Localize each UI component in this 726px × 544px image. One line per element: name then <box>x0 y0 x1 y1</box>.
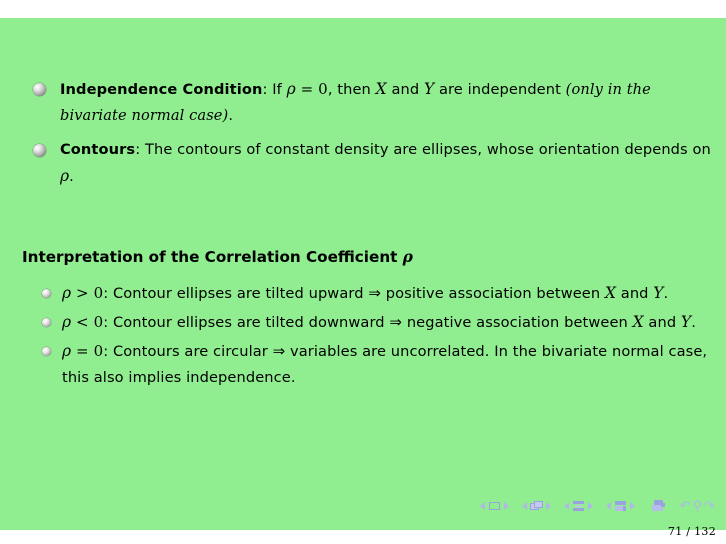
variable-x: X <box>376 80 387 98</box>
zero-value: 0 <box>94 284 104 302</box>
slide-icon[interactable] <box>488 500 501 512</box>
vertical-spacer <box>0 268 726 280</box>
variable-y: Y <box>653 284 663 302</box>
item-period: . <box>664 285 669 302</box>
slide-navigation-group[interactable] <box>477 500 512 512</box>
item-colon: : <box>103 285 113 302</box>
vertical-spacer <box>0 198 726 246</box>
item-colon: : <box>103 314 113 331</box>
previous-subsection-button[interactable] <box>564 502 569 510</box>
zero-value: 0 <box>94 313 104 331</box>
list-item-rho-negative: ρ < 0: Contour ellipses are tilted downw… <box>0 309 726 336</box>
implies-arrow-icon: ⇒ <box>368 284 381 302</box>
variable-x: X <box>605 284 616 302</box>
relation-symbol: > <box>71 284 93 302</box>
item-text-3: and <box>616 285 653 302</box>
zero-value: 0 <box>94 342 104 360</box>
rho-symbol: ρ <box>62 313 71 331</box>
zero-value: 0 <box>318 80 328 98</box>
list-item-rho-zero: ρ = 0: Contours are circular ⇒ variables… <box>0 338 726 391</box>
subsection-icon[interactable] <box>572 500 585 512</box>
relation-symbol: < <box>71 313 93 331</box>
top-level-bullet-list: Independence Condition: If ρ = 0, then X… <box>0 76 726 190</box>
heading-rho-symbol: ρ <box>403 248 413 266</box>
presentation-icon[interactable] <box>652 500 665 512</box>
variable-y: Y <box>424 80 434 98</box>
item-text-4: are independent <box>434 81 565 98</box>
next-subsection-button[interactable] <box>588 502 593 510</box>
heading-text: Interpretation of the Correlation Coeffi… <box>22 248 397 266</box>
variable-x: X <box>633 313 644 331</box>
bullet-ball-icon <box>33 83 46 96</box>
redo-arrow-icon[interactable]: ↷ <box>704 500 715 513</box>
item-text-3: and <box>644 314 681 331</box>
item-text-3: and <box>387 81 424 98</box>
list-item-independence-condition: Independence Condition: If ρ = 0, then X… <box>0 76 726 129</box>
section-navigation-group[interactable] <box>603 500 638 512</box>
item-period: . <box>69 168 74 185</box>
item-term: Contours <box>60 141 135 158</box>
equals-symbol: = <box>296 80 318 98</box>
frame-navigation-group[interactable] <box>519 500 554 512</box>
presentation-slide: Independence Condition: If ρ = 0, then X… <box>0 0 726 544</box>
next-slide-button[interactable] <box>504 502 509 510</box>
presentation-group[interactable] <box>652 500 665 512</box>
rho-symbol: ρ <box>62 284 71 302</box>
item-text-1: Contour ellipses are tilted downward <box>113 314 389 331</box>
bullet-ball-icon <box>42 289 51 298</box>
bullet-ball-icon <box>42 318 51 327</box>
bullet-ball-icon <box>33 144 46 157</box>
undo-arrow-icon[interactable]: ↶ <box>680 500 691 513</box>
item-text-1: Contour ellipses are tilted upward <box>113 285 368 302</box>
previous-frame-button[interactable] <box>522 502 527 510</box>
item-text-1: The contours of constant density are ell… <box>140 141 711 158</box>
next-frame-button[interactable] <box>546 502 551 510</box>
beamer-navigation-bar[interactable]: ↶ ⚲ ↷ <box>477 498 716 514</box>
page-title: Interpretation of the Correlation Coeffi… <box>0 246 726 268</box>
history-group[interactable]: ↶ ⚲ ↷ <box>679 500 716 513</box>
previous-slide-button[interactable] <box>480 502 485 510</box>
slide-content: Independence Condition: If ρ = 0, then X… <box>0 18 726 393</box>
list-item-rho-positive: ρ > 0: Contour ellipses are tilted upwar… <box>0 280 726 307</box>
subsection-navigation-group[interactable] <box>561 500 596 512</box>
implies-arrow-icon: ⇒ <box>273 342 286 360</box>
bullet-ball-icon <box>42 347 51 356</box>
previous-section-button[interactable] <box>606 502 611 510</box>
rho-symbol: ρ <box>287 80 296 98</box>
item-term: Independence Condition <box>60 81 262 98</box>
relation-symbol: = <box>71 342 93 360</box>
item-text-2: negative association between <box>402 314 633 331</box>
item-text-2: , then <box>328 81 376 98</box>
magnifier-icon[interactable]: ⚲ <box>693 500 703 513</box>
item-text-1: Contours are circular <box>113 343 273 360</box>
section-icon[interactable] <box>614 500 627 512</box>
item-colon: : <box>103 343 113 360</box>
variable-y: Y <box>681 313 691 331</box>
item-text-2: positive association between <box>381 285 605 302</box>
rho-symbol: ρ <box>60 167 69 185</box>
page-number: 71 / 132 <box>668 525 716 538</box>
slide-content-area: Independence Condition: If ρ = 0, then X… <box>0 18 726 530</box>
second-level-bullet-list: ρ > 0: Contour ellipses are tilted upwar… <box>0 280 726 391</box>
rho-symbol: ρ <box>62 342 71 360</box>
list-item-contours: Contours: The contours of constant densi… <box>0 137 726 190</box>
item-period: . <box>228 107 233 124</box>
next-section-button[interactable] <box>630 502 635 510</box>
item-text-1: If <box>267 81 286 98</box>
item-period: . <box>691 314 696 331</box>
implies-arrow-icon: ⇒ <box>389 313 402 331</box>
frame-icon[interactable] <box>530 500 543 512</box>
